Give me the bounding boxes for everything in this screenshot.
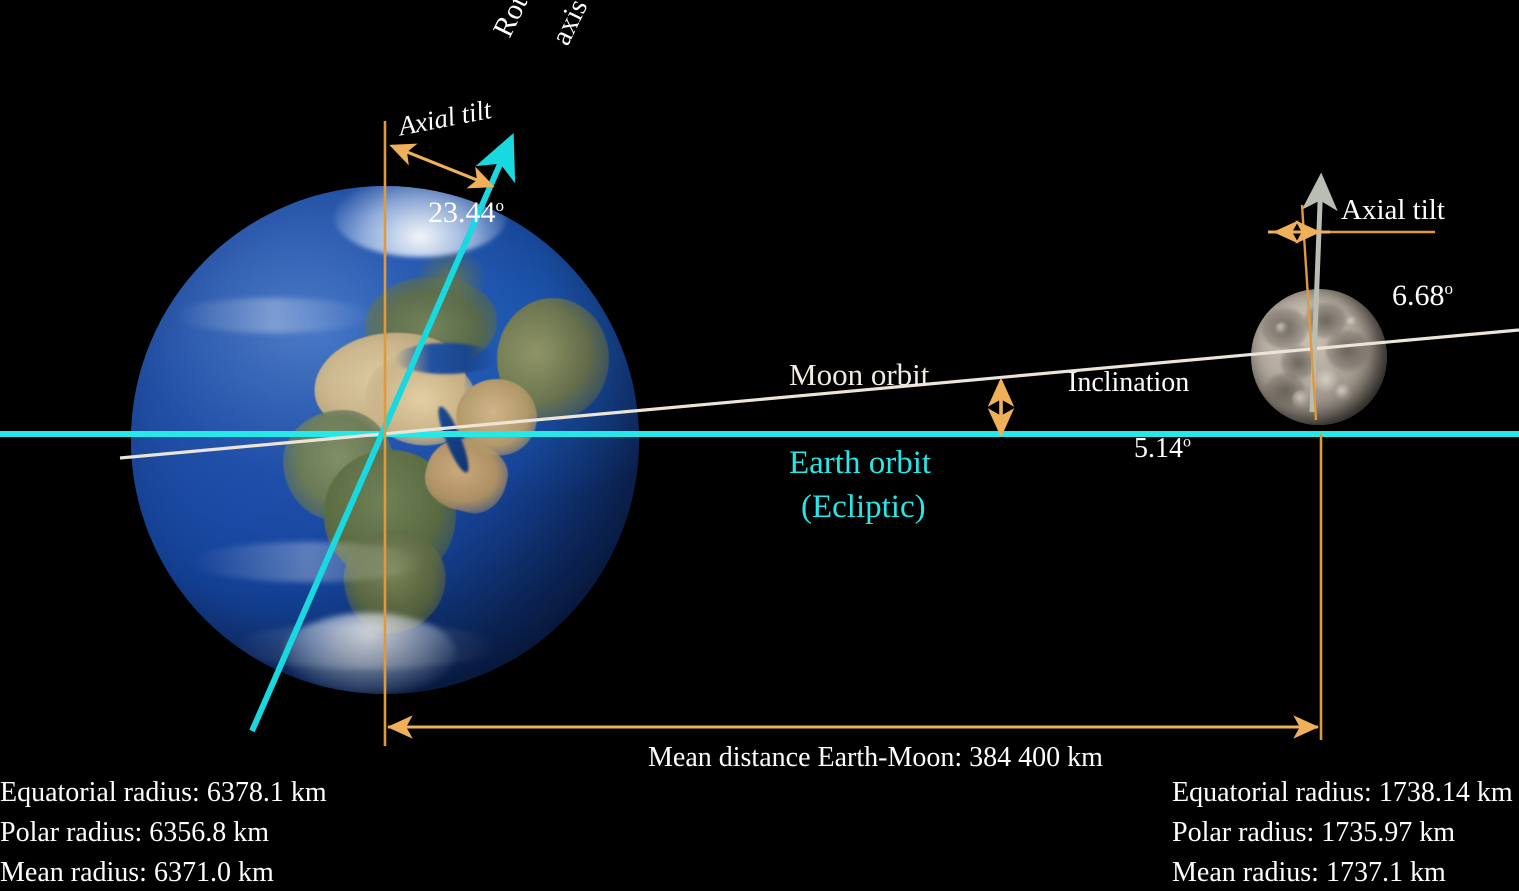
- earth-orbit-label-line1: Earth orbit: [789, 445, 931, 483]
- inclination-number: 5.14: [1134, 433, 1183, 464]
- earth-axial-tilt-value: 23.44o: [398, 161, 504, 265]
- moon-axial-tilt-label: Axial tilt: [1341, 194, 1445, 227]
- moon-axial-tilt-value: 6.68o: [1362, 244, 1453, 348]
- earth-stat-mean-radius: Mean radius: 6371.0 km: [0, 857, 274, 889]
- moon-orbit-line: [120, 330, 1519, 458]
- inclination-degree-symbol: o: [1183, 434, 1191, 451]
- earth-stat-equatorial-radius: Equatorial radius: 6378.1 km: [0, 777, 327, 809]
- moon-stat-equatorial-radius: Equatorial radius: 1738.14 km: [1172, 777, 1513, 809]
- diagram-canvas: Rotation axis Axial tilt 23.44o Axial ti…: [0, 0, 1519, 891]
- earth-axial-tilt-number: 23.44: [428, 196, 496, 229]
- earth-orbit-label-line2: (Ecliptic): [801, 489, 926, 527]
- moon-orbit-label: Moon orbit: [789, 357, 929, 393]
- moon-axial-tilt-number: 6.68: [1392, 279, 1445, 312]
- moon-stat-polar-radius: Polar radius: 1735.97 km: [1172, 817, 1455, 849]
- moon-stat-mean-radius: Mean radius: 1737.1 km: [1172, 857, 1446, 889]
- earth-axial-tilt-degree-symbol: o: [496, 196, 505, 215]
- moon-axial-tilt-degree-symbol: o: [1445, 279, 1454, 298]
- inclination-value: 5.14o: [1106, 401, 1191, 498]
- mean-distance-label: Mean distance Earth-Moon: 384 400 km: [648, 742, 1103, 774]
- earth-stat-polar-radius: Polar radius: 6356.8 km: [0, 817, 269, 849]
- inclination-label: Inclination: [1068, 367, 1189, 399]
